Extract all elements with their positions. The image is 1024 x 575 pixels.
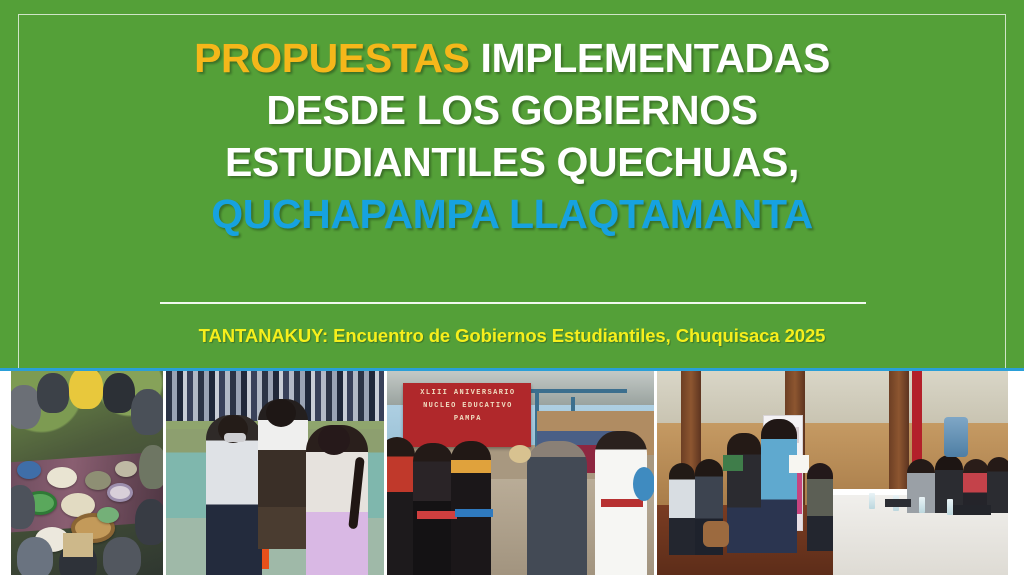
photo-acto-civico: XLIII ANIVERSARIO NUCLEO EDUCATIVO PAMPA… [387,371,654,575]
slide-subtitle: TANTANAKUY: Encuentro de Gobiernos Estud… [0,325,1024,347]
title-line-1-rest: IMPLEMENTADAS [470,35,830,81]
photo-1-scene [11,371,163,575]
title-panel: PROPUESTAS IMPLEMENTADAS DESDE LOS GOBIE… [0,0,1024,368]
photo-2-scene [166,371,384,575]
title-line-2: DESDE LOS GOBIERNOS [40,84,984,136]
photo-exposicion-mesa-directiva: Estudiantes exponiendo propuestas ante l… [657,371,1008,575]
title-line-3: ESTUDIANTILES QUECHUAS, [40,136,984,188]
slide-root: PROPUESTAS IMPLEMENTADAS DESDE LOS GOBIE… [0,0,1024,575]
photo-3-scene: XLIII ANIVERSARIO NUCLEO EDUCATIVO PAMPA [387,371,654,575]
slide-title: PROPUESTAS IMPLEMENTADAS DESDE LOS GOBIE… [0,32,1024,240]
title-divider [160,302,866,304]
title-line-1: PROPUESTAS IMPLEMENTADAS [40,32,984,84]
title-highlight-propuestas: PROPUESTAS [194,35,469,81]
photo-strip: Vista cenital de estudiantes y comunidad… [11,371,1008,575]
title-line-4-quechua: QUCHAPAMPA LLAQTAMANTA [40,188,984,240]
photo-3-banner-text: XLIII ANIVERSARIO NUCLEO EDUCATIVO PAMPA [407,387,529,426]
photo-mesa-naranja: Tres estudiantes alrededor de una mesa n… [166,371,384,575]
photo-apthapi: Vista cenital de estudiantes y comunidad… [11,371,163,575]
photo-4-scene [657,371,1008,575]
